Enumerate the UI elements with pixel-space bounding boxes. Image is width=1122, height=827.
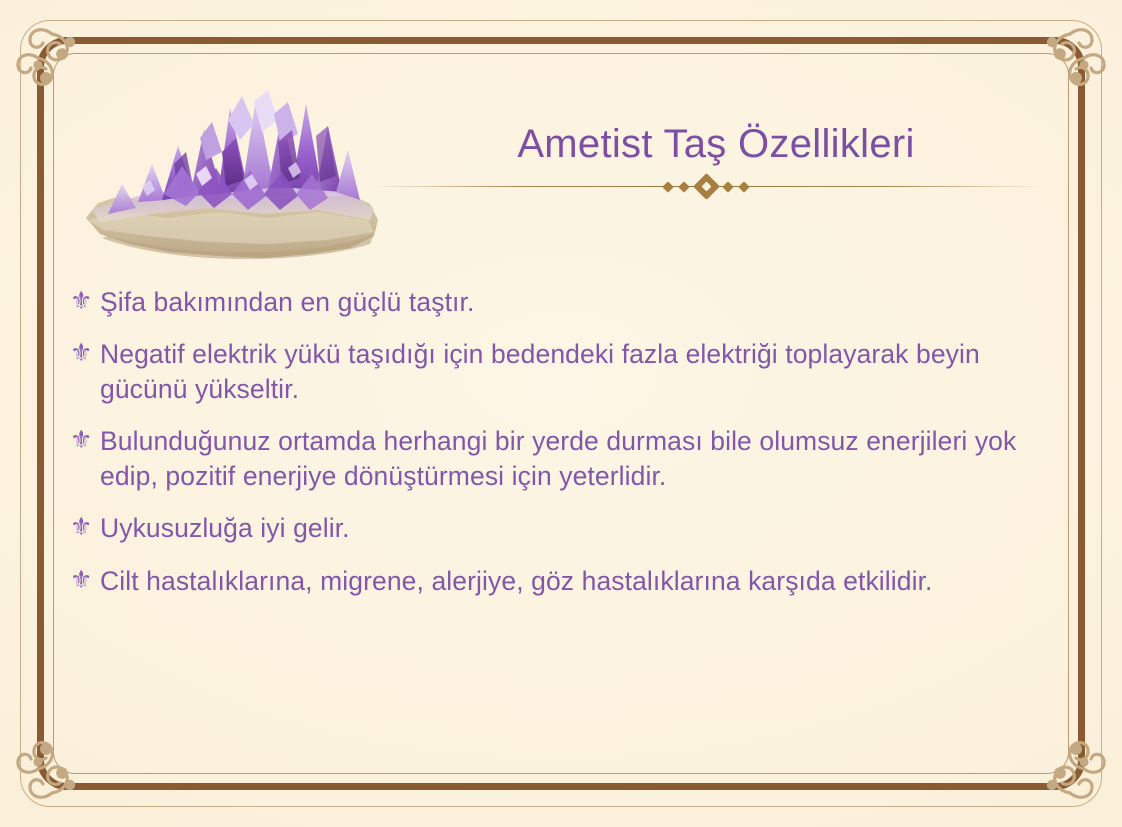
list-item-text: Negatif elektrik yükü taşıdığı için bede… <box>100 337 1035 406</box>
ornamental-divider <box>370 175 1042 197</box>
list-item-text: Şifa bakımından en güçlü taştır. <box>100 285 474 319</box>
list-item-text: Uykusuzluğa iyi gelir. <box>100 511 350 545</box>
list-item-text: Bulunduğunuz ortamda herhangi bir yerde … <box>100 424 1035 493</box>
amethyst-info-card: Ametist Taş Özellikleri ⚜ Şifa bakımında… <box>0 0 1122 827</box>
divider-pip-icon <box>662 181 673 192</box>
fleur-de-lis-icon: ⚜ <box>70 425 100 455</box>
fleur-de-lis-icon: ⚜ <box>70 338 100 368</box>
list-item: ⚜ Negatif elektrik yükü taşıdığı için be… <box>70 337 1056 406</box>
amethyst-crystal-image <box>78 68 388 273</box>
divider-pip-icon <box>722 181 733 192</box>
page-title: Ametist Taş Özellikleri <box>370 122 1042 167</box>
list-item-text: Cilt hastalıklarına, migrene, alerjiye, … <box>100 564 933 598</box>
properties-list: ⚜ Şifa bakımından en güçlü taştır. ⚜ Neg… <box>70 285 1056 616</box>
divider-pip-icon <box>738 181 749 192</box>
list-item: ⚜ Uykusuzluğa iyi gelir. <box>70 511 1056 545</box>
divider-diamond-icon <box>693 173 720 200</box>
fleur-de-lis-icon: ⚜ <box>70 286 100 316</box>
divider-pip-icon <box>678 181 689 192</box>
fleur-de-lis-icon: ⚜ <box>70 565 100 595</box>
list-item: ⚜ Cilt hastalıklarına, migrene, alerjiye… <box>70 564 1056 598</box>
card-header: Ametist Taş Özellikleri <box>370 122 1042 197</box>
card-content: Ametist Taş Özellikleri ⚜ Şifa bakımında… <box>60 60 1062 767</box>
fleur-de-lis-icon: ⚜ <box>70 512 100 542</box>
list-item: ⚜ Şifa bakımından en güçlü taştır. <box>70 285 1056 319</box>
list-item: ⚜ Bulunduğunuz ortamda herhangi bir yerd… <box>70 424 1056 493</box>
